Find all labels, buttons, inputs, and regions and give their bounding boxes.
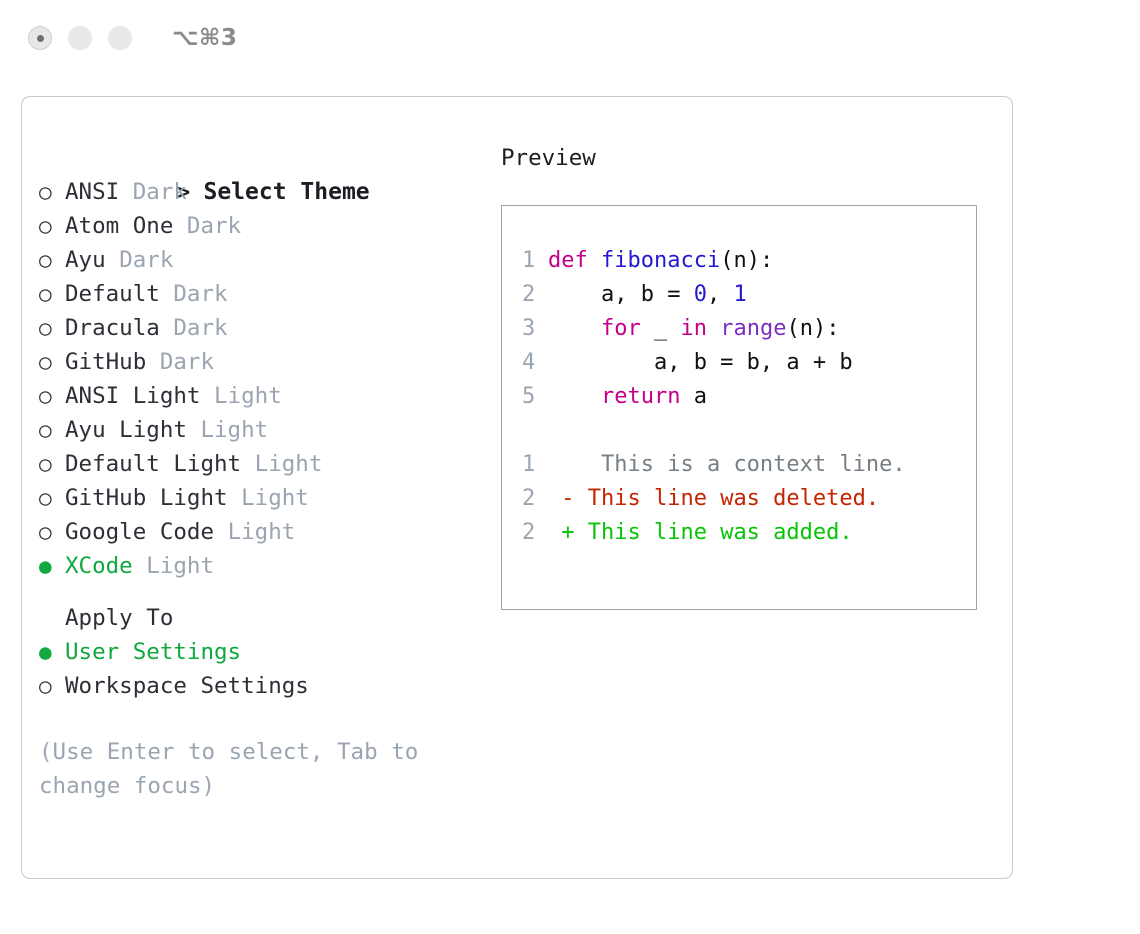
space — [160, 281, 174, 307]
code-sample: 1def fibonacci(n):2 a, b = 0, 13 for _ i… — [522, 244, 976, 414]
space — [241, 451, 255, 477]
app-window: ⌥⌘3 >Select Theme ○ANSI Dark○Atom One Da… — [0, 0, 1140, 934]
code-line-number: 1 — [522, 244, 548, 278]
radio-unselected-icon: ○ — [39, 209, 65, 243]
theme-option-name: XCode — [65, 553, 133, 579]
theme-selector-panel: >Select Theme ○ANSI Dark○Atom One Dark○A… — [21, 96, 1013, 879]
code-token: def — [548, 248, 588, 273]
radio-unselected-icon: ○ — [39, 243, 65, 277]
theme-option-kind: Dark — [173, 315, 227, 341]
theme-option-name: Default Light — [65, 451, 241, 477]
theme-option-name: Ayu — [65, 247, 106, 273]
apply-to-option-label: User Settings — [65, 639, 241, 665]
theme-option-name: Atom One — [65, 213, 173, 239]
diff-text: This is a context line. — [575, 452, 906, 477]
theme-option-ansi-light[interactable]: ○ANSI Light Light — [39, 379, 499, 413]
diff-line: 1 This is a context line. — [522, 448, 976, 482]
section-spacer — [39, 583, 499, 601]
theme-option-kind: Dark — [160, 349, 214, 375]
code-line: 3 for _ in range(n): — [522, 312, 976, 346]
code-line-number: 2 — [522, 278, 548, 312]
code-token: return — [601, 384, 680, 409]
diff-sign: - — [548, 486, 575, 511]
radio-unselected-icon: ○ — [39, 515, 65, 549]
preview-column: Preview 1def fibonacci(n):2 a, b = 0, 13… — [501, 141, 991, 610]
space — [173, 213, 187, 239]
space — [119, 179, 133, 205]
code-token — [707, 316, 720, 341]
radio-unselected-icon: ○ — [39, 447, 65, 481]
space — [187, 417, 201, 443]
theme-option-name: ANSI Light — [65, 383, 200, 409]
space — [200, 383, 214, 409]
theme-option-name: Google Code — [65, 519, 214, 545]
preview-box: 1def fibonacci(n):2 a, b = 0, 13 for _ i… — [501, 205, 977, 610]
diff-text: This line was added. — [575, 520, 853, 545]
radio-unselected-icon: ○ — [39, 311, 65, 345]
space — [228, 485, 242, 511]
radio-selected-icon: ● — [39, 549, 65, 583]
theme-option-default[interactable]: ○Default Dark — [39, 277, 499, 311]
theme-option-list: ○ANSI Dark○Atom One Dark○Ayu Dark○Defaul… — [39, 175, 499, 583]
apply-to-option-label: Workspace Settings — [65, 673, 309, 699]
radio-unselected-icon: ○ — [39, 175, 65, 209]
radio-unselected-icon: ○ — [39, 413, 65, 447]
code-token — [588, 248, 601, 273]
theme-option-kind: Light — [228, 519, 296, 545]
apply-to-option-list: ●User Settings○Workspace Settings — [39, 635, 499, 703]
space — [160, 315, 174, 341]
diff-sign — [548, 452, 575, 477]
code-token: fibonacci — [601, 248, 720, 273]
radio-unselected-icon: ○ — [39, 379, 65, 413]
code-token: 0 — [694, 282, 707, 307]
code-line: 2 a, b = 0, 1 — [522, 278, 976, 312]
theme-option-name: GitHub — [65, 349, 146, 375]
diff-line: 2 + This line was added. — [522, 516, 976, 550]
radio-unselected-icon: ○ — [39, 481, 65, 515]
code-token: (n): — [786, 316, 839, 341]
preview-gap — [522, 414, 976, 448]
diff-sample: 1 This is a context line.2 - This line w… — [522, 448, 976, 550]
theme-option-github-light[interactable]: ○GitHub Light Light — [39, 481, 499, 515]
code-line-number: 4 — [522, 346, 548, 380]
code-token: a, b = b, a + b — [548, 350, 853, 375]
apply-to-heading: Apply To — [39, 601, 499, 635]
theme-option-kind: Light — [214, 383, 282, 409]
space — [214, 519, 228, 545]
theme-option-default-light[interactable]: ○Default Light Light — [39, 447, 499, 481]
code-token: , — [707, 282, 734, 307]
theme-option-kind: Dark — [133, 179, 187, 205]
code-line-number: 3 — [522, 312, 548, 346]
code-token: _ — [641, 316, 681, 341]
window-titlebar: ⌥⌘3 — [0, 0, 1140, 76]
theme-option-kind: Light — [255, 451, 323, 477]
theme-option-kind: Light — [200, 417, 268, 443]
radio-unselected-icon: ○ — [39, 277, 65, 311]
code-token: (n): — [720, 248, 773, 273]
code-token: range — [720, 316, 786, 341]
diff-line-number: 1 — [522, 448, 548, 482]
theme-option-name: Default — [65, 281, 160, 307]
theme-option-name: ANSI — [65, 179, 119, 205]
theme-option-name: Ayu Light — [65, 417, 187, 443]
select-theme-heading: >Select Theme — [39, 141, 499, 175]
code-token: for — [601, 316, 641, 341]
theme-option-dracula[interactable]: ○Dracula Dark — [39, 311, 499, 345]
diff-sign: + — [548, 520, 575, 545]
apply-to-option-workspace-settings[interactable]: ○Workspace Settings — [39, 669, 499, 703]
radio-unselected-icon: ○ — [39, 345, 65, 379]
code-token: a, b = — [548, 282, 694, 307]
space — [146, 349, 160, 375]
theme-option-name: Dracula — [65, 315, 160, 341]
theme-option-kind: Light — [146, 553, 214, 579]
radio-selected-icon: ● — [39, 635, 65, 669]
code-token — [548, 384, 601, 409]
keyboard-hint-text: (Use Enter to select, Tab to change focu… — [39, 735, 449, 803]
window-dot-inner-icon — [37, 35, 44, 42]
preview-heading: Preview — [501, 141, 991, 175]
select-theme-heading-label: Select Theme — [203, 179, 369, 205]
window-dot-third-icon[interactable] — [108, 26, 132, 50]
theme-option-ayu-light[interactable]: ○Ayu Light Light — [39, 413, 499, 447]
diff-line-number: 2 — [522, 516, 548, 550]
window-dot-second-icon[interactable] — [68, 26, 92, 50]
code-token: a — [680, 384, 707, 409]
theme-option-kind: Light — [241, 485, 309, 511]
code-token — [548, 316, 601, 341]
window-dot-active-icon[interactable] — [28, 26, 52, 50]
theme-option-github[interactable]: ○GitHub Dark — [39, 345, 499, 379]
theme-option-google-code[interactable]: ○Google Code Light — [39, 515, 499, 549]
theme-option-kind: Dark — [119, 247, 173, 273]
theme-list-column: >Select Theme ○ANSI Dark○Atom One Dark○A… — [39, 141, 499, 803]
theme-option-atom-one[interactable]: ○Atom One Dark — [39, 209, 499, 243]
theme-option-ayu[interactable]: ○Ayu Dark — [39, 243, 499, 277]
theme-option-kind: Dark — [173, 281, 227, 307]
code-token: 1 — [733, 282, 746, 307]
apply-to-option-user-settings[interactable]: ●User Settings — [39, 635, 499, 669]
theme-option-xcode[interactable]: ●XCode Light — [39, 549, 499, 583]
diff-line: 2 - This line was deleted. — [522, 482, 976, 516]
space — [106, 247, 120, 273]
code-line-number: 5 — [522, 380, 548, 414]
code-line: 1def fibonacci(n): — [522, 244, 976, 278]
diff-line-number: 2 — [522, 482, 548, 516]
space — [133, 553, 147, 579]
keyboard-shortcut-label: ⌥⌘3 — [172, 25, 237, 51]
code-token: in — [680, 316, 707, 341]
radio-unselected-icon: ○ — [39, 669, 65, 703]
panel-content: >Select Theme ○ANSI Dark○Atom One Dark○A… — [22, 97, 1012, 878]
code-line: 4 a, b = b, a + b — [522, 346, 976, 380]
diff-text: This line was deleted. — [575, 486, 880, 511]
theme-option-name: GitHub Light — [65, 485, 228, 511]
theme-option-kind: Dark — [187, 213, 241, 239]
code-line: 5 return a — [522, 380, 976, 414]
